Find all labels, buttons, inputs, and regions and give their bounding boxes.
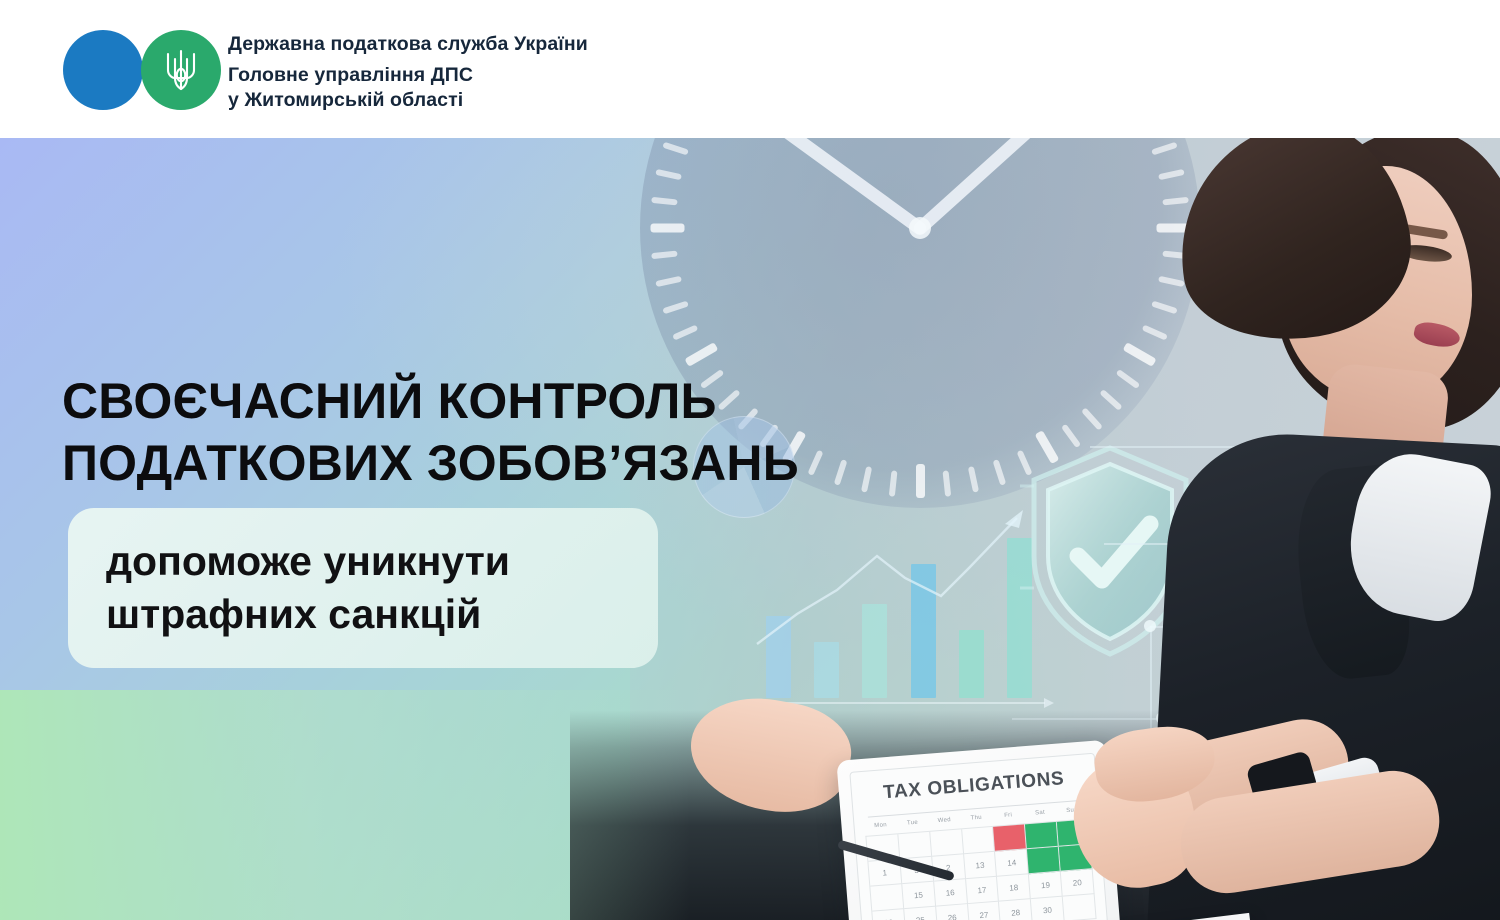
logo-circle-blue <box>63 30 143 110</box>
clock-tick <box>1116 369 1141 389</box>
calendar-weekday: Sat <box>1024 809 1056 817</box>
clock-tick <box>807 450 823 476</box>
desk-gradient-mask <box>0 690 690 920</box>
calendar-weekday: Fri <box>992 811 1024 819</box>
calendar-day-cell[interactable] <box>1027 847 1061 874</box>
calendar-day-cell[interactable]: 19 <box>1029 872 1063 899</box>
calendar-day-cell[interactable] <box>962 827 996 854</box>
tablet-screen: TAX OBLIGATIONS MonTueWedThuFriSatSun 13… <box>849 753 1110 920</box>
calendar-day-cell[interactable]: 30 <box>1031 897 1065 920</box>
clock-tick <box>834 459 848 486</box>
calendar-weekday: Thu <box>960 814 992 822</box>
clock-tick <box>993 459 1007 486</box>
hero-callout-box: допоможе уникнути штрафних санкцій <box>68 508 658 668</box>
clock-tick <box>672 325 698 341</box>
clock-tick <box>916 464 925 498</box>
calendar-day-cell[interactable]: 20 <box>1061 869 1095 896</box>
hero-banner: TAX OBLIGATIONS MonTueWedThuFriSatSun 13… <box>0 138 1500 920</box>
calendar-day-cell[interactable]: 25 <box>904 907 938 920</box>
calendar-day-cell[interactable]: 14 <box>995 849 1029 876</box>
calendar-day-cell[interactable]: 13 <box>964 852 998 879</box>
hud-node-dot <box>1144 620 1156 632</box>
calendar-day-cell[interactable]: 28 <box>999 899 1033 920</box>
bar-chart-trendline <box>755 494 1045 684</box>
clock-tick <box>650 224 684 233</box>
site-header: Державна податкова служба України Головн… <box>0 0 1500 138</box>
calendar-weekday: Mon <box>864 821 896 829</box>
calendar-day-cell[interactable]: 23 <box>872 909 906 920</box>
calendar-day-cell[interactable] <box>870 884 904 911</box>
clock-tick <box>662 142 689 156</box>
calendar-day-cell[interactable] <box>993 824 1027 851</box>
bar-chart-graphic <box>755 518 1045 698</box>
clock-tick <box>651 251 677 260</box>
calendar-day-cell[interactable] <box>930 829 964 856</box>
calendar-day-cell[interactable]: 27 <box>968 902 1002 920</box>
org-name-line3: у Житомирській області <box>228 88 588 113</box>
hero-headline: СВОЄЧАСНИЙ КОНТРОЛЬ ПОДАТКОВИХ ЗОБОВ’ЯЗА… <box>62 370 799 494</box>
clock-tick <box>968 466 979 493</box>
clock-tick <box>1122 342 1156 367</box>
ukrainian-trident-icon <box>141 30 221 110</box>
clock-tick <box>1142 325 1168 341</box>
calendar-weekday: Tue <box>896 819 928 827</box>
calendar-day-cell[interactable]: 16 <box>934 879 968 906</box>
clock-tick <box>943 470 952 496</box>
calendar-day-cell[interactable]: 18 <box>997 874 1031 901</box>
headline-line-1: СВОЄЧАСНИЙ КОНТРОЛЬ <box>62 370 799 432</box>
calendar-weekday: Wed <box>928 816 960 824</box>
clock-tick <box>655 169 682 180</box>
callout-line-2: штрафних санкцій <box>106 588 620 641</box>
calendar-day-cell[interactable] <box>898 832 932 859</box>
dps-logo <box>63 30 221 110</box>
headline-line-2: ПОДАТКОВИХ ЗОБОВ’ЯЗАНЬ <box>62 432 799 494</box>
clock-tick <box>655 276 682 287</box>
calendar-day-cell[interactable]: 26 <box>936 904 970 920</box>
clock-tick <box>651 197 677 206</box>
calendar-day-cell[interactable]: 17 <box>966 877 1000 904</box>
clock-center-cap <box>909 217 931 239</box>
header-org-text: Державна податкова служба України Головн… <box>228 31 588 113</box>
clock-tick <box>684 342 718 367</box>
callout-line-1: допоможе уникнути <box>106 535 620 588</box>
clock-tick <box>861 466 872 493</box>
clock-tick <box>889 470 898 496</box>
calendar-day-cell[interactable] <box>1063 894 1097 920</box>
org-name-line1: Державна податкова служба України <box>228 31 588 57</box>
calendar-day-cell[interactable] <box>1025 822 1059 849</box>
clock-tick <box>662 301 689 315</box>
org-name-line2: Головне управління ДПС <box>228 63 588 88</box>
calendar-grid: 1321314151617181920232526272830 <box>865 818 1096 920</box>
calendar-day-cell[interactable]: 15 <box>902 882 936 909</box>
banner-canvas: Державна податкова служба України Головн… <box>0 0 1500 920</box>
